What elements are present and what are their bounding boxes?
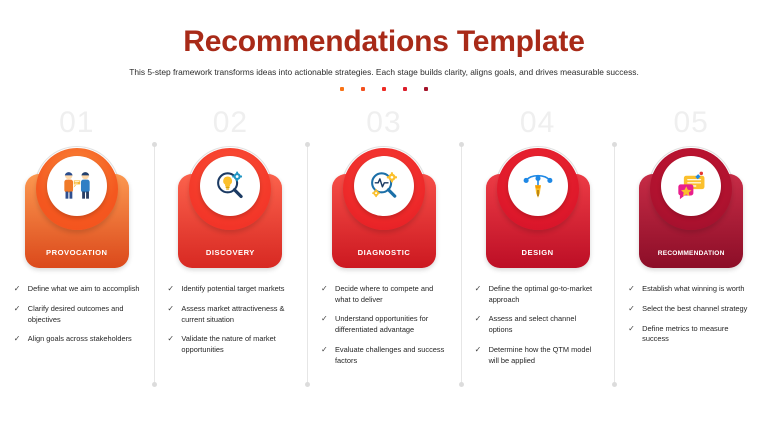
bullet-text: Define the optimal go-to-market approach (489, 284, 601, 305)
bullet-text: Assess market attractiveness & current s… (181, 304, 293, 325)
decorative-dot-2 (361, 87, 365, 91)
decorative-dot-5 (424, 87, 428, 91)
step-badge[interactable]: DIAGNOSTIC (332, 144, 436, 268)
list-item: ✓ Align goals across stakeholders (14, 334, 140, 345)
check-icon: ✓ (628, 324, 636, 335)
bullet-text: Validate the nature of market opportunit… (181, 334, 293, 355)
decorative-dots (0, 87, 768, 91)
divider-bottom-dot (459, 382, 464, 387)
list-item: ✓ Assess and select channel options (475, 314, 601, 335)
divider-bottom-dot (612, 382, 617, 387)
list-item: ✓ Understand opportunities for different… (321, 314, 447, 335)
list-item: ✓ Validate the nature of market opportun… (167, 334, 293, 355)
bullet-text: Understand opportunities for differentia… (335, 314, 447, 335)
check-icon: ✓ (167, 304, 175, 315)
step-card-02[interactable]: 02 DISCOVERY ✓ I (154, 104, 308, 394)
magnifier-pulse-gears-icon (354, 156, 414, 216)
step-label: RECOMMENDATION (639, 250, 743, 257)
step-bullet-list: ✓ Identify potential target markets✓ Ass… (167, 284, 293, 356)
check-icon: ✓ (321, 345, 329, 356)
list-item: ✓ Define metrics to measure success (628, 324, 754, 345)
decorative-dot-1 (340, 87, 344, 91)
bullet-text: Identify potential target markets (181, 284, 284, 295)
step-badge[interactable]: DISCOVERY (178, 144, 282, 268)
list-item: ✓ Define what we aim to accomplish (14, 284, 140, 295)
magnifier-lightbulb-gear-icon (200, 156, 260, 216)
bullet-text: Assess and select channel options (489, 314, 601, 335)
step-badge[interactable]: PROVOCATION (25, 144, 129, 268)
bullet-text: Select the best channel strategy (642, 304, 747, 315)
step-label: DIAGNOSTIC (332, 248, 436, 257)
list-item: ✓ Identify potential target markets (167, 284, 293, 295)
step-divider (614, 144, 615, 385)
check-icon: ✓ (167, 334, 175, 345)
slide-root: Recommendations Template This 5-step fra… (0, 0, 768, 432)
bullet-text: Establish what winning is worth (642, 284, 744, 295)
decorative-dot-3 (382, 87, 386, 91)
list-item: ✓ Clarify desired outcomes and objective… (14, 304, 140, 325)
divider-top-dot (305, 142, 310, 147)
bullet-text: Evaluate challenges and success factors (335, 345, 447, 366)
divider-top-dot (459, 142, 464, 147)
step-divider (307, 144, 308, 385)
slide-header: Recommendations Template This 5-step fra… (0, 0, 768, 91)
check-icon: ✓ (628, 304, 636, 315)
step-number: 01 (59, 108, 94, 142)
divider-bottom-dot (305, 382, 310, 387)
divider-top-dot (152, 142, 157, 147)
page-subtitle: This 5-step framework transforms ideas i… (0, 67, 768, 77)
step-label: PROVOCATION (25, 248, 129, 257)
step-label: DESIGN (486, 248, 590, 257)
pen-bezier-tool-icon (508, 156, 568, 216)
list-item: ✓ Define the optimal go-to-market approa… (475, 284, 601, 305)
step-divider (461, 144, 462, 385)
step-divider (154, 144, 155, 385)
bullet-text: Decide where to compete and what to deli… (335, 284, 447, 305)
step-label: DISCOVERY (178, 248, 282, 257)
step-bullet-list: ✓ Define the optimal go-to-market approa… (475, 284, 601, 366)
check-icon: ✓ (321, 314, 329, 325)
check-icon: ✓ (321, 284, 329, 295)
step-bullet-list: ✓ Establish what winning is worth✓ Selec… (628, 284, 754, 345)
list-item: ✓ Select the best channel strategy (628, 304, 754, 315)
step-badge[interactable]: DESIGN (486, 144, 590, 268)
list-item: ✓ Assess market attractiveness & current… (167, 304, 293, 325)
check-icon: ✓ (628, 284, 636, 295)
bullet-text: Clarify desired outcomes and objectives (28, 304, 140, 325)
check-icon: ✓ (475, 314, 483, 325)
bullet-text: Define metrics to measure success (642, 324, 754, 345)
list-item: ✓ Evaluate challenges and success factor… (321, 345, 447, 366)
step-card-05[interactable]: 05 RECOMMENDATION ✓ Establish what winni… (614, 104, 768, 394)
list-item: ✓ Establish what winning is worth (628, 284, 754, 295)
step-bullet-list: ✓ Decide where to compete and what to de… (321, 284, 447, 366)
step-card-03[interactable]: 03 (307, 104, 461, 394)
step-bullet-list: ✓ Define what we aim to accomplish✓ Clar… (14, 284, 140, 345)
step-badge[interactable]: RECOMMENDATION (639, 144, 743, 268)
step-number: 02 (213, 108, 248, 142)
check-icon: ✓ (14, 284, 22, 295)
check-icon: ✓ (14, 304, 22, 315)
bullet-text: Determine how the QTM model will be appl… (489, 345, 601, 366)
divider-top-dot (612, 142, 617, 147)
speech-bubbles-star-icon (661, 156, 721, 216)
check-icon: ✓ (475, 284, 483, 295)
check-icon: ✓ (475, 345, 483, 356)
step-number: 05 (673, 108, 708, 142)
list-item: ✓ Decide where to compete and what to de… (321, 284, 447, 305)
steps-container: 01 PROVOCATION ✓ Define what (0, 104, 768, 394)
check-icon: ✓ (167, 284, 175, 295)
check-icon: ✓ (14, 334, 22, 345)
list-item: ✓ Determine how the QTM model will be ap… (475, 345, 601, 366)
page-title: Recommendations Template (0, 27, 768, 57)
step-number: 04 (520, 108, 555, 142)
decorative-dot-4 (403, 87, 407, 91)
step-card-04[interactable]: 04 DESIGN ✓ Define the optimal go-to-mar… (461, 104, 615, 394)
step-number: 03 (366, 108, 401, 142)
bullet-text: Define what we aim to accomplish (28, 284, 140, 295)
step-card-01[interactable]: 01 PROVOCATION ✓ Define what (0, 104, 154, 394)
bullet-text: Align goals across stakeholders (28, 334, 132, 345)
divider-bottom-dot (152, 382, 157, 387)
two-people-talking-icon (47, 156, 107, 216)
